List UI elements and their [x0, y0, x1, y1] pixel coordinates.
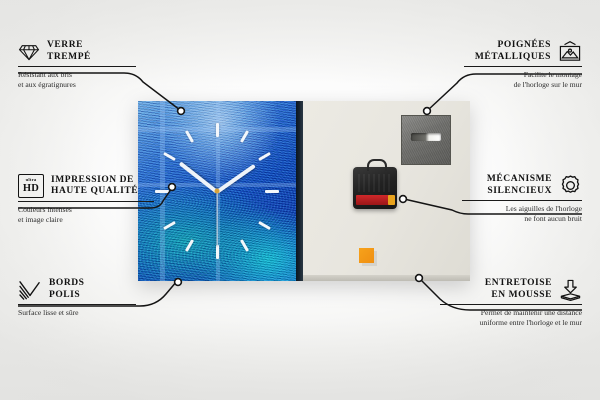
callout-title: BORDS POLIS: [49, 278, 84, 301]
metal-hanger-plate: [401, 115, 451, 165]
panel-edge: [296, 101, 303, 281]
callout-divider: [18, 201, 154, 202]
ultra-hd-icon-small-text: ultra: [26, 178, 37, 183]
callout-poignees-metalliques: POIGNÉES MÉTALLIQUES Facilite le montage…: [464, 40, 582, 89]
callout-title: IMPRESSION DE HAUTE QUALITÉ: [51, 175, 138, 198]
battery-positive-terminal: [388, 195, 395, 205]
dial-tick: [265, 190, 279, 193]
clock-back-panel: [303, 101, 470, 281]
ultra-hd-icon-large-text: HD: [23, 184, 39, 195]
callout-divider: [18, 304, 136, 305]
callout-divider: [18, 66, 136, 67]
callout-title: ENTRETOISE EN MOUSSE: [485, 278, 552, 301]
callout-impression-haute-qualite: ultra HD IMPRESSION DE HAUTE QUALITÉ Cou…: [18, 174, 154, 224]
diamond-icon: [18, 43, 40, 61]
mechanism-surface-detail: [358, 174, 391, 192]
dial-tick: [155, 190, 169, 193]
clock-front-panel: [138, 101, 296, 281]
clock-mechanism-box: [353, 167, 397, 209]
callout-subtitle: Permet de maintenir une distance uniform…: [440, 308, 582, 327]
callout-subtitle: Surface lisse et sûre: [18, 308, 136, 318]
callout-bords-polis: BORDS POLIS Surface lisse et sûre: [18, 278, 136, 318]
foam-spacer-pad: [359, 248, 374, 263]
grid-line-horizontal-2: [138, 183, 296, 187]
callout-subtitle: Couleurs intenses et image claire: [18, 205, 154, 224]
polished-edges-icon: [18, 280, 42, 300]
picture-hanger-icon: [558, 41, 582, 62]
callout-verre-trempe: VERRE TREMPÉ Résistant aux bris et aux é…: [18, 40, 136, 89]
battery: [356, 195, 390, 205]
ultra-hd-icon: ultra HD: [18, 174, 44, 198]
callout-divider: [462, 200, 582, 201]
callout-title: VERRE TREMPÉ: [47, 40, 91, 63]
callout-title: POIGNÉES MÉTALLIQUES: [475, 40, 551, 63]
product-image: [138, 101, 470, 281]
callout-subtitle: Résistant aux bris et aux égratignures: [18, 70, 136, 89]
gear-icon: [559, 174, 582, 197]
product-infographic: VERRE TREMPÉ Résistant aux bris et aux é…: [0, 0, 600, 400]
callout-divider: [440, 304, 582, 305]
clock-center-cap: [215, 189, 220, 194]
dial-tick: [216, 245, 219, 259]
callout-subtitle: Facilite le montage de l'horloge sur le …: [464, 70, 582, 89]
callout-mecanisme-silencieux: MÉCANISME SILENCIEUX Les aiguilles de l'…: [462, 174, 582, 223]
clock-second-hand: [216, 192, 217, 247]
hanger-keyhole-slot: [411, 133, 441, 141]
mechanism-wire-loop: [367, 159, 387, 171]
dial-tick: [216, 123, 219, 137]
callout-divider: [464, 66, 582, 67]
callout-entretoise-en-mousse: ENTRETOISE EN MOUSSE Permet de maintenir…: [440, 278, 582, 327]
callout-title: MÉCANISME SILENCIEUX: [487, 174, 552, 197]
callout-subtitle: Les aiguilles de l'horloge ne font aucun…: [462, 204, 582, 223]
foam-spacer-icon: [559, 279, 582, 301]
